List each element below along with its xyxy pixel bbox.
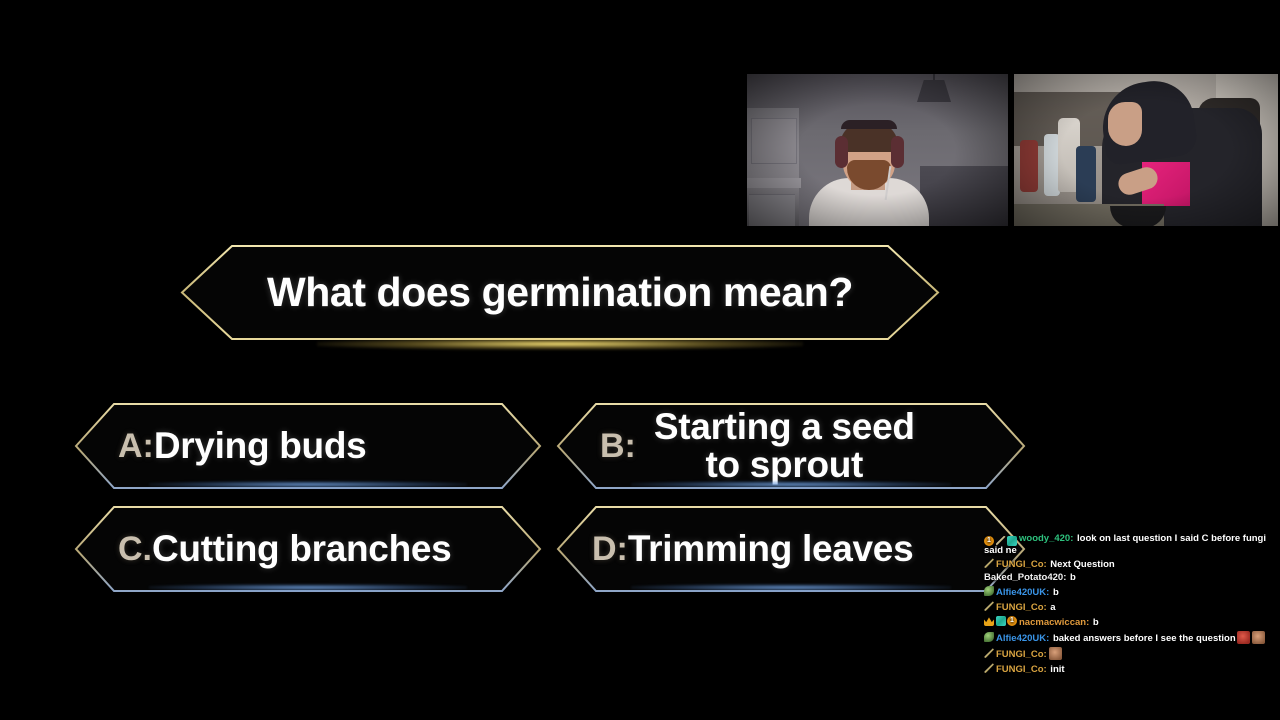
chat-badges [984,601,994,611]
chat-username[interactable]: Baked_Potato420: [984,572,1066,583]
answer-option-b[interactable]: B: Starting a seed to sprout [556,400,1026,492]
leaf-badge-icon [984,586,994,596]
chat-username[interactable]: nacmacwiccan: [1019,617,1089,628]
answer-content: A: Drying buds [74,400,542,492]
answer-text-b: Starting a seed to sprout [654,408,915,483]
answer-text-d: Trimming leaves [628,530,913,568]
chat-message: FUNGI_Co: init [984,662,1280,677]
chat-badges [984,558,994,568]
square-badge-icon [996,616,1006,626]
chat-message-text: Next Question [1048,559,1115,570]
answer-option-a[interactable]: A: Drying buds [74,400,542,492]
chat-username[interactable]: FUNGI_Co: [996,649,1047,660]
chat-emote-icon [1049,647,1062,660]
one-badge-icon: 1 [1007,616,1017,626]
chat-message-text: b [1090,617,1098,628]
chat-message-text: a [1048,602,1056,613]
answer-text-c: Cutting branches [152,530,451,568]
answer-text-a: Drying buds [154,427,367,465]
sword-badge-icon [984,601,994,611]
chat-overlay[interactable]: 1woody_420: look on last question I said… [984,532,1280,677]
chat-username[interactable]: Alfie420UK: [996,587,1049,598]
chat-username[interactable]: Alfie420UK: [996,633,1049,644]
chat-badges [984,663,994,673]
chat-message: FUNGI_Co: Next Question [984,557,1280,572]
video-vignette [1014,74,1278,226]
video-vignette [747,74,1008,226]
answer-content: D: Trimming leaves [556,503,1026,595]
sword-badge-icon [984,558,994,568]
chat-message: FUNGI_Co: [984,646,1280,662]
answer-content: C. Cutting branches [74,503,542,595]
chat-username[interactable]: FUNGI_Co: [996,602,1047,613]
chat-message: FUNGI_Co: a [984,600,1280,615]
chat-badges [984,586,994,596]
webcam-feed-left[interactable] [745,72,1010,228]
chat-username[interactable]: FUNGI_Co: [996,664,1047,675]
answer-option-d[interactable]: D: Trimming leaves [556,503,1026,595]
chat-emote-icon [1252,631,1265,644]
chat-message-text: b [1050,587,1058,598]
question-text: What does germination mean? [180,240,940,345]
answer-content: B: Starting a seed to sprout [556,400,1026,492]
chat-message: Baked_Potato420: b [984,572,1280,585]
answer-letter-a: A: [118,427,154,466]
chat-message: Alfie420UK: b [984,585,1280,600]
chat-message: 1woody_420: look on last question I said… [984,532,1280,557]
chat-username[interactable]: woody_420: [1019,533,1073,544]
answer-letter-c: C. [118,530,152,569]
question-banner: What does germination mean? [180,240,940,345]
chat-message: 1nacmacwiccan: b [984,615,1280,630]
webcam-feeds-row [745,72,1280,228]
chat-badges [984,632,994,642]
webcam-feed-right[interactable] [1012,72,1280,228]
chat-message-text: init [1048,664,1065,675]
answer-letter-b: B: [600,427,636,466]
sword-badge-icon [984,648,994,658]
chat-badges [984,648,994,658]
leaf-badge-icon [984,632,994,642]
answer-letter-d: D: [592,530,628,569]
chat-message-text: b [1067,572,1075,583]
crown-badge-icon [984,616,994,626]
chat-message-text: baked answers before I see the question [1050,633,1235,644]
chat-badges: 1 [984,616,1017,626]
chat-username[interactable]: FUNGI_Co: [996,559,1047,570]
sword-badge-icon [984,663,994,673]
chat-emote-icon [1237,631,1250,644]
chat-message: Alfie420UK: baked answers before I see t… [984,630,1280,646]
answer-option-c[interactable]: C. Cutting branches [74,503,542,595]
